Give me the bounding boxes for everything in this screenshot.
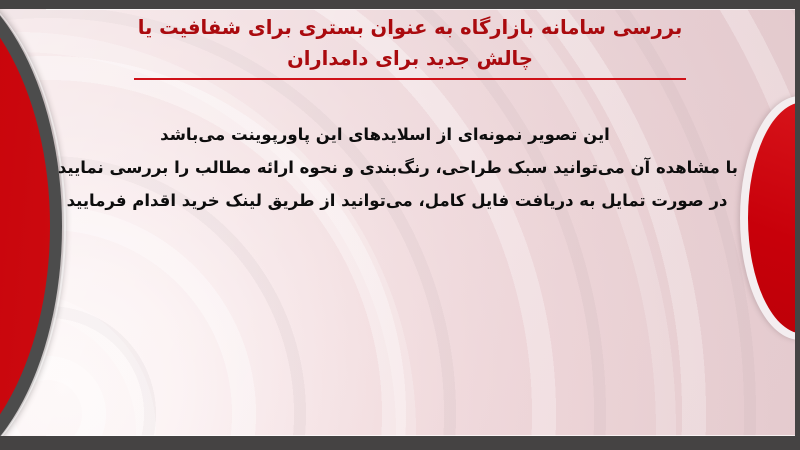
slide-title: بررسی سامانه بازارگاه به عنوان بستری برا…	[120, 12, 700, 74]
body-text-line-1: این تصویر نمونه‌ای از اسلایدهای این پاور…	[60, 118, 738, 151]
presentation-slide: بررسی سامانه بازارگاه به عنوان بستری برا…	[0, 0, 800, 450]
frame-inner-line-top	[46, 9, 795, 10]
body-text-line-2: با مشاهده آن می‌توانید سبک طراحی، رنگ‌بن…	[60, 151, 738, 184]
frame-bar-right	[795, 0, 800, 450]
slide-body-text: این تصویر نمونه‌ای از اسلایدهای این پاور…	[60, 118, 738, 217]
title-underline-rule	[134, 78, 686, 80]
slide-title-line-1: بررسی سامانه بازارگاه به عنوان بستری برا…	[120, 12, 700, 43]
frame-bar-bottom	[0, 436, 800, 450]
frame-inner-line-bottom	[46, 435, 795, 436]
slide-title-line-2: چالش جدید برای دامداران	[120, 43, 700, 74]
body-text-line-3: در صورت تمایل به دریافت فایل کامل، می‌تو…	[60, 184, 738, 217]
frame-bar-top	[0, 0, 800, 9]
